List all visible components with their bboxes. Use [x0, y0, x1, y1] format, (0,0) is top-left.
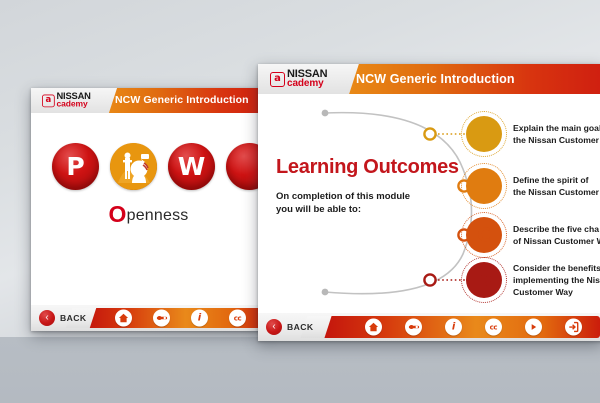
outcome-badge-d-letter: D [476, 269, 492, 291]
page-subtitle-line2: you will be able to: [276, 204, 361, 215]
outcome-badge-a: A [466, 116, 502, 152]
outcome-d-line2: implementing the Nis [513, 275, 600, 285]
outcome-badge-b-letter: B [477, 175, 491, 197]
outcome-text-d: Consider the benefits implementing the N… [513, 262, 600, 299]
value-circle-row: P [31, 143, 266, 190]
logo-a-mark: a [42, 94, 55, 107]
outcome-item-c[interactable]: C Describe the five cha of Nissan Custom… [466, 217, 600, 253]
arc-endpoint-top [322, 110, 329, 117]
value-circle-w[interactable]: W [168, 143, 215, 190]
learning-outcomes-body: Learning Outcomes On completion of this … [258, 94, 600, 313]
outcome-text-a: Explain the main goal the Nissan Custome… [513, 122, 600, 146]
arc-endpoint-bottom [322, 289, 329, 296]
outcome-d-line3: Customer Way [513, 287, 573, 297]
slide-title: NCW Generic Introduction [115, 88, 249, 113]
outcome-item-a[interactable]: A Explain the main goal the Nissan Custo… [466, 116, 600, 152]
play-icon[interactable] [525, 319, 542, 336]
outcome-badge-d: D [466, 262, 502, 298]
toolbar-icon-group: i cc [354, 319, 593, 336]
slide-header: a NISSAN cademy NCW Generic Introduction [258, 64, 600, 94]
nissan-academy-logo: a NISSAN cademy [42, 92, 91, 109]
outcome-d-line1: Consider the benefits [513, 263, 600, 273]
arc-node-a [424, 128, 435, 139]
bottom-toolbar: ‹ BACK i cc [31, 305, 266, 331]
learning-outcomes-slide[interactable]: a NISSAN cademy NCW Generic Introduction [258, 64, 600, 341]
value-circle-p-letter: P [66, 152, 84, 181]
back-button-label: BACK [287, 322, 313, 332]
toolbar-icon-group: i cc [115, 310, 266, 327]
info-icon[interactable]: i [445, 319, 462, 336]
logo-cademy-text: cademy [56, 101, 90, 110]
outcome-a-line2: the Nissan Customer [513, 135, 599, 145]
outcome-text-c: Describe the five cha of Nissan Customer… [513, 223, 600, 247]
link-icon[interactable] [153, 310, 170, 327]
slide-title: NCW Generic Introduction [356, 64, 515, 94]
values-slide-body: P [31, 113, 266, 305]
value-word: Openness [31, 201, 266, 228]
outcome-badge-a-letter: A [477, 123, 492, 145]
cc-icon[interactable]: cc [229, 310, 246, 327]
outcome-c-line1: Describe the five cha [513, 224, 599, 234]
outcome-b-line1: Define the spirit of [513, 175, 588, 185]
value-circle-p[interactable]: P [52, 143, 99, 190]
outcome-badge-c: C [466, 217, 502, 253]
slide-header: a NISSAN cademy NCW Generic Introduction [31, 88, 266, 113]
page-subtitle-line1: On completion of this module [276, 191, 410, 202]
outcome-badge-b: B [466, 168, 502, 204]
back-button[interactable]: ‹ BACK [39, 310, 86, 326]
home-icon[interactable] [115, 310, 132, 327]
chevron-left-icon: ‹ [266, 319, 282, 335]
chevron-left-icon: ‹ [39, 310, 55, 326]
logo-cademy-text: cademy [287, 79, 327, 89]
value-circle-illustration[interactable] [110, 143, 157, 190]
outcome-item-b[interactable]: B Define the spirit of the Nissan Custom… [466, 168, 599, 204]
back-button-label: BACK [60, 313, 86, 323]
info-icon[interactable]: i [191, 310, 208, 327]
values-slide[interactable]: a NISSAN cademy NCW Generic Introduction… [31, 88, 266, 331]
value-word-initial: O [109, 201, 127, 227]
bottom-toolbar: ‹ BACK i cc [258, 313, 600, 341]
value-word-rest: penness [127, 207, 189, 224]
exit-icon[interactable] [565, 319, 582, 336]
outcome-badge-c-letter: C [477, 224, 491, 246]
home-icon[interactable] [365, 319, 382, 336]
back-button[interactable]: ‹ BACK [266, 319, 313, 335]
outcome-text-b: Define the spirit of the Nissan Customer [513, 174, 599, 198]
value-circle-w-letter: W [178, 152, 206, 181]
outcome-item-d[interactable]: D Consider the benefits implementing the… [466, 262, 600, 299]
logo-a-mark: a [270, 72, 285, 87]
arc-node-d [424, 274, 435, 285]
people-illustration-icon [110, 143, 157, 190]
outcome-b-line2: the Nissan Customer [513, 187, 599, 197]
cc-icon[interactable]: cc [485, 319, 502, 336]
page-title: Learning Outcomes [276, 156, 459, 179]
page-subtitle: On completion of this module you will be… [276, 191, 426, 217]
slide-deck-stage: a NISSAN cademy NCW Generic Introduction… [0, 0, 600, 403]
link-icon[interactable] [405, 319, 422, 336]
outcome-c-line2: of Nissan Customer W [513, 236, 600, 246]
nissan-academy-logo: a NISSAN cademy [270, 69, 327, 89]
outcome-a-line1: Explain the main goal [513, 123, 600, 133]
